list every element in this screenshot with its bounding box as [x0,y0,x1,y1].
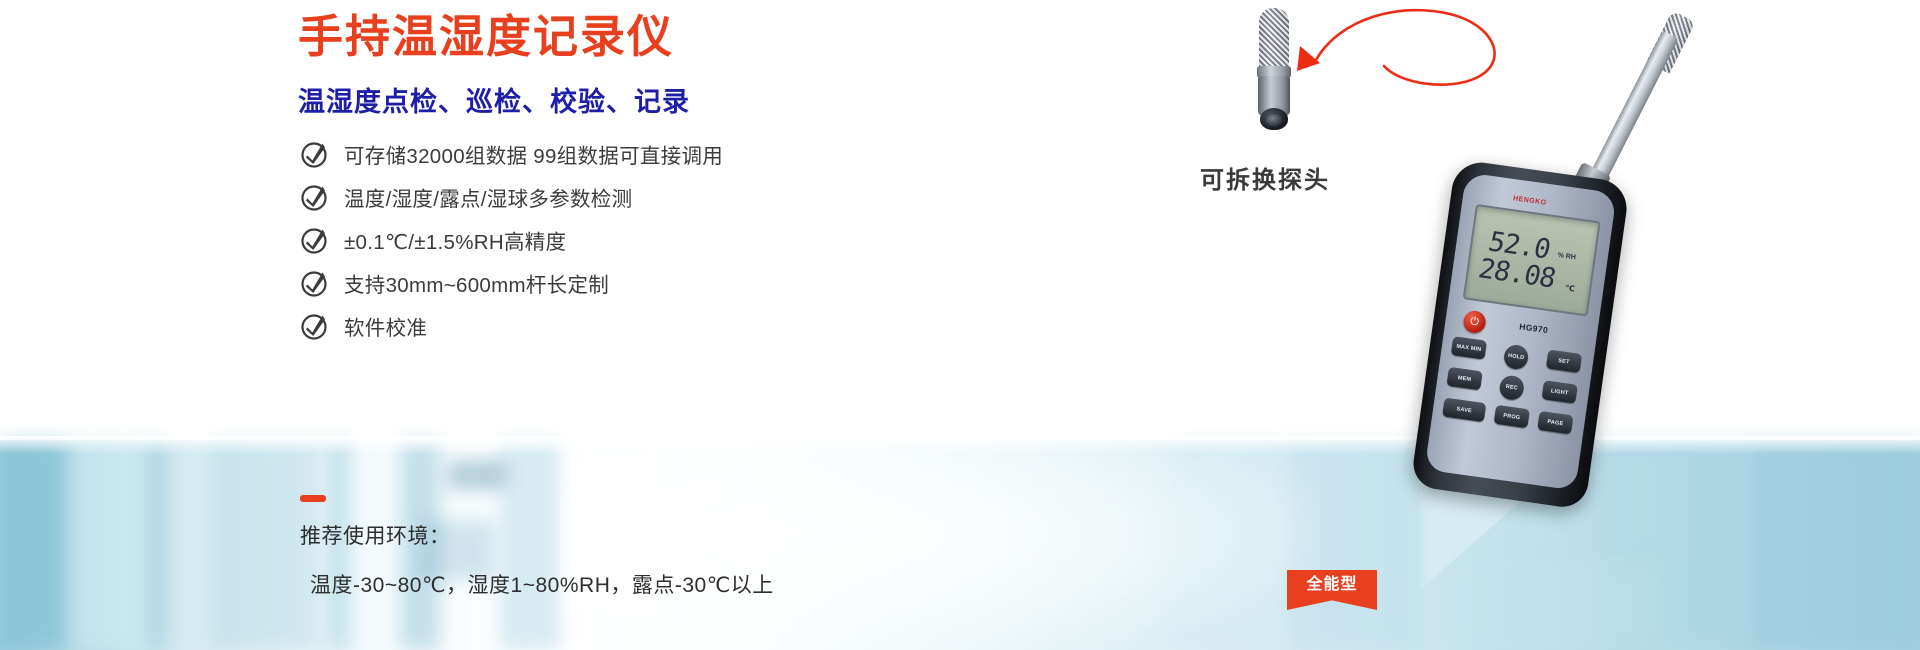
probe-connector-inner [1266,114,1282,126]
check-circle-icon [300,182,330,212]
lcd-humidity-unit: % RH [1557,252,1576,261]
page-title: 手持温湿度记录仪 [298,12,674,62]
device-lcd-screen: 52.0 % RH 28.08 ℃ [1463,204,1601,317]
device-keypad: MAX MIN HOLD SET MEM REC LIGHT SAVE PROG… [1441,336,1582,441]
check-circle-icon [300,311,330,341]
list-item-label: 可存储32000组数据 99组数据可直接调用 [344,139,723,169]
probe-caption: 可拆换探头 [1200,160,1330,195]
section-divider-dash [300,495,326,502]
product-banner: 手持温湿度记录仪 温湿度点检、巡检、校验、记录 可存储32000组数据 99组数… [0,0,1920,650]
check-circle-icon [300,268,330,298]
list-item-label: 支持30mm~600mm杆长定制 [344,268,609,298]
device-key[interactable]: PROG [1494,405,1530,429]
feature-list: 可存储32000组数据 99组数据可直接调用 温度/湿度/露点/湿球多参数检测 … [300,132,723,347]
lcd-temperature-unit: ℃ [1565,283,1576,293]
list-item: 温度/湿度/露点/湿球多参数检测 [300,175,723,218]
list-item: 软件校准 [300,304,723,347]
band-top-fade [0,436,1920,454]
list-item-label: 软件校准 [344,311,427,341]
list-item-label: ±0.1℃/±1.5%RH高精度 [344,225,566,255]
check-circle-icon [300,139,330,169]
device-key[interactable]: REC [1498,374,1525,401]
list-item: 支持30mm~600mm杆长定制 [300,261,723,304]
list-item: ±0.1℃/±1.5%RH高精度 [300,218,723,261]
device-key[interactable]: MAX MIN [1451,336,1487,360]
check-circle-icon [300,225,330,255]
environment-detail: 温度-30~80℃，湿度1~80%RH，露点-30℃以上 [300,569,774,599]
page-subtitle: 温湿度点检、巡检、校验、记录 [298,80,690,119]
device-key[interactable]: HOLD [1503,344,1530,371]
list-item: 可存储32000组数据 99组数据可直接调用 [300,132,723,175]
device-key[interactable]: MEM [1446,367,1482,391]
environment-block: 推荐使用环境： 温度-30~80℃，湿度1~80%RH，露点-30℃以上 [300,520,774,599]
list-item-label: 温度/湿度/露点/湿球多参数检测 [344,182,632,212]
device-key[interactable]: SAVE [1442,398,1486,423]
device-key[interactable]: LIGHT [1542,380,1578,404]
device-key[interactable]: PAGE [1537,411,1573,435]
device-key[interactable]: SET [1546,349,1582,373]
environment-heading: 推荐使用环境： [300,520,774,550]
curved-arrow-icon [1280,0,1530,110]
